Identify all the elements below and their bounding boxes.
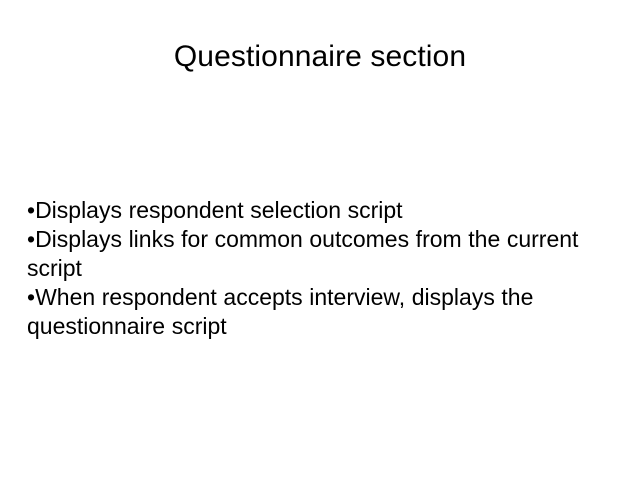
list-item-label: Displays respondent selection script bbox=[35, 197, 403, 223]
page-title: Questionnaire section bbox=[0, 38, 640, 76]
slide: Questionnaire section •Displays responde… bbox=[0, 0, 640, 480]
list-item: •Displays links for common outcomes from… bbox=[27, 225, 631, 283]
list-item: •Displays respondent selection script bbox=[27, 196, 631, 225]
bullet-icon: • bbox=[27, 226, 35, 252]
bullet-icon: • bbox=[27, 284, 35, 310]
bullet-list: •Displays respondent selection script •D… bbox=[27, 196, 631, 341]
list-item-label: When respondent accepts interview, displ… bbox=[27, 284, 533, 339]
bullet-icon: • bbox=[27, 197, 35, 223]
list-item: •When respondent accepts interview, disp… bbox=[27, 283, 631, 341]
list-item-label: Displays links for common outcomes from … bbox=[27, 226, 578, 281]
